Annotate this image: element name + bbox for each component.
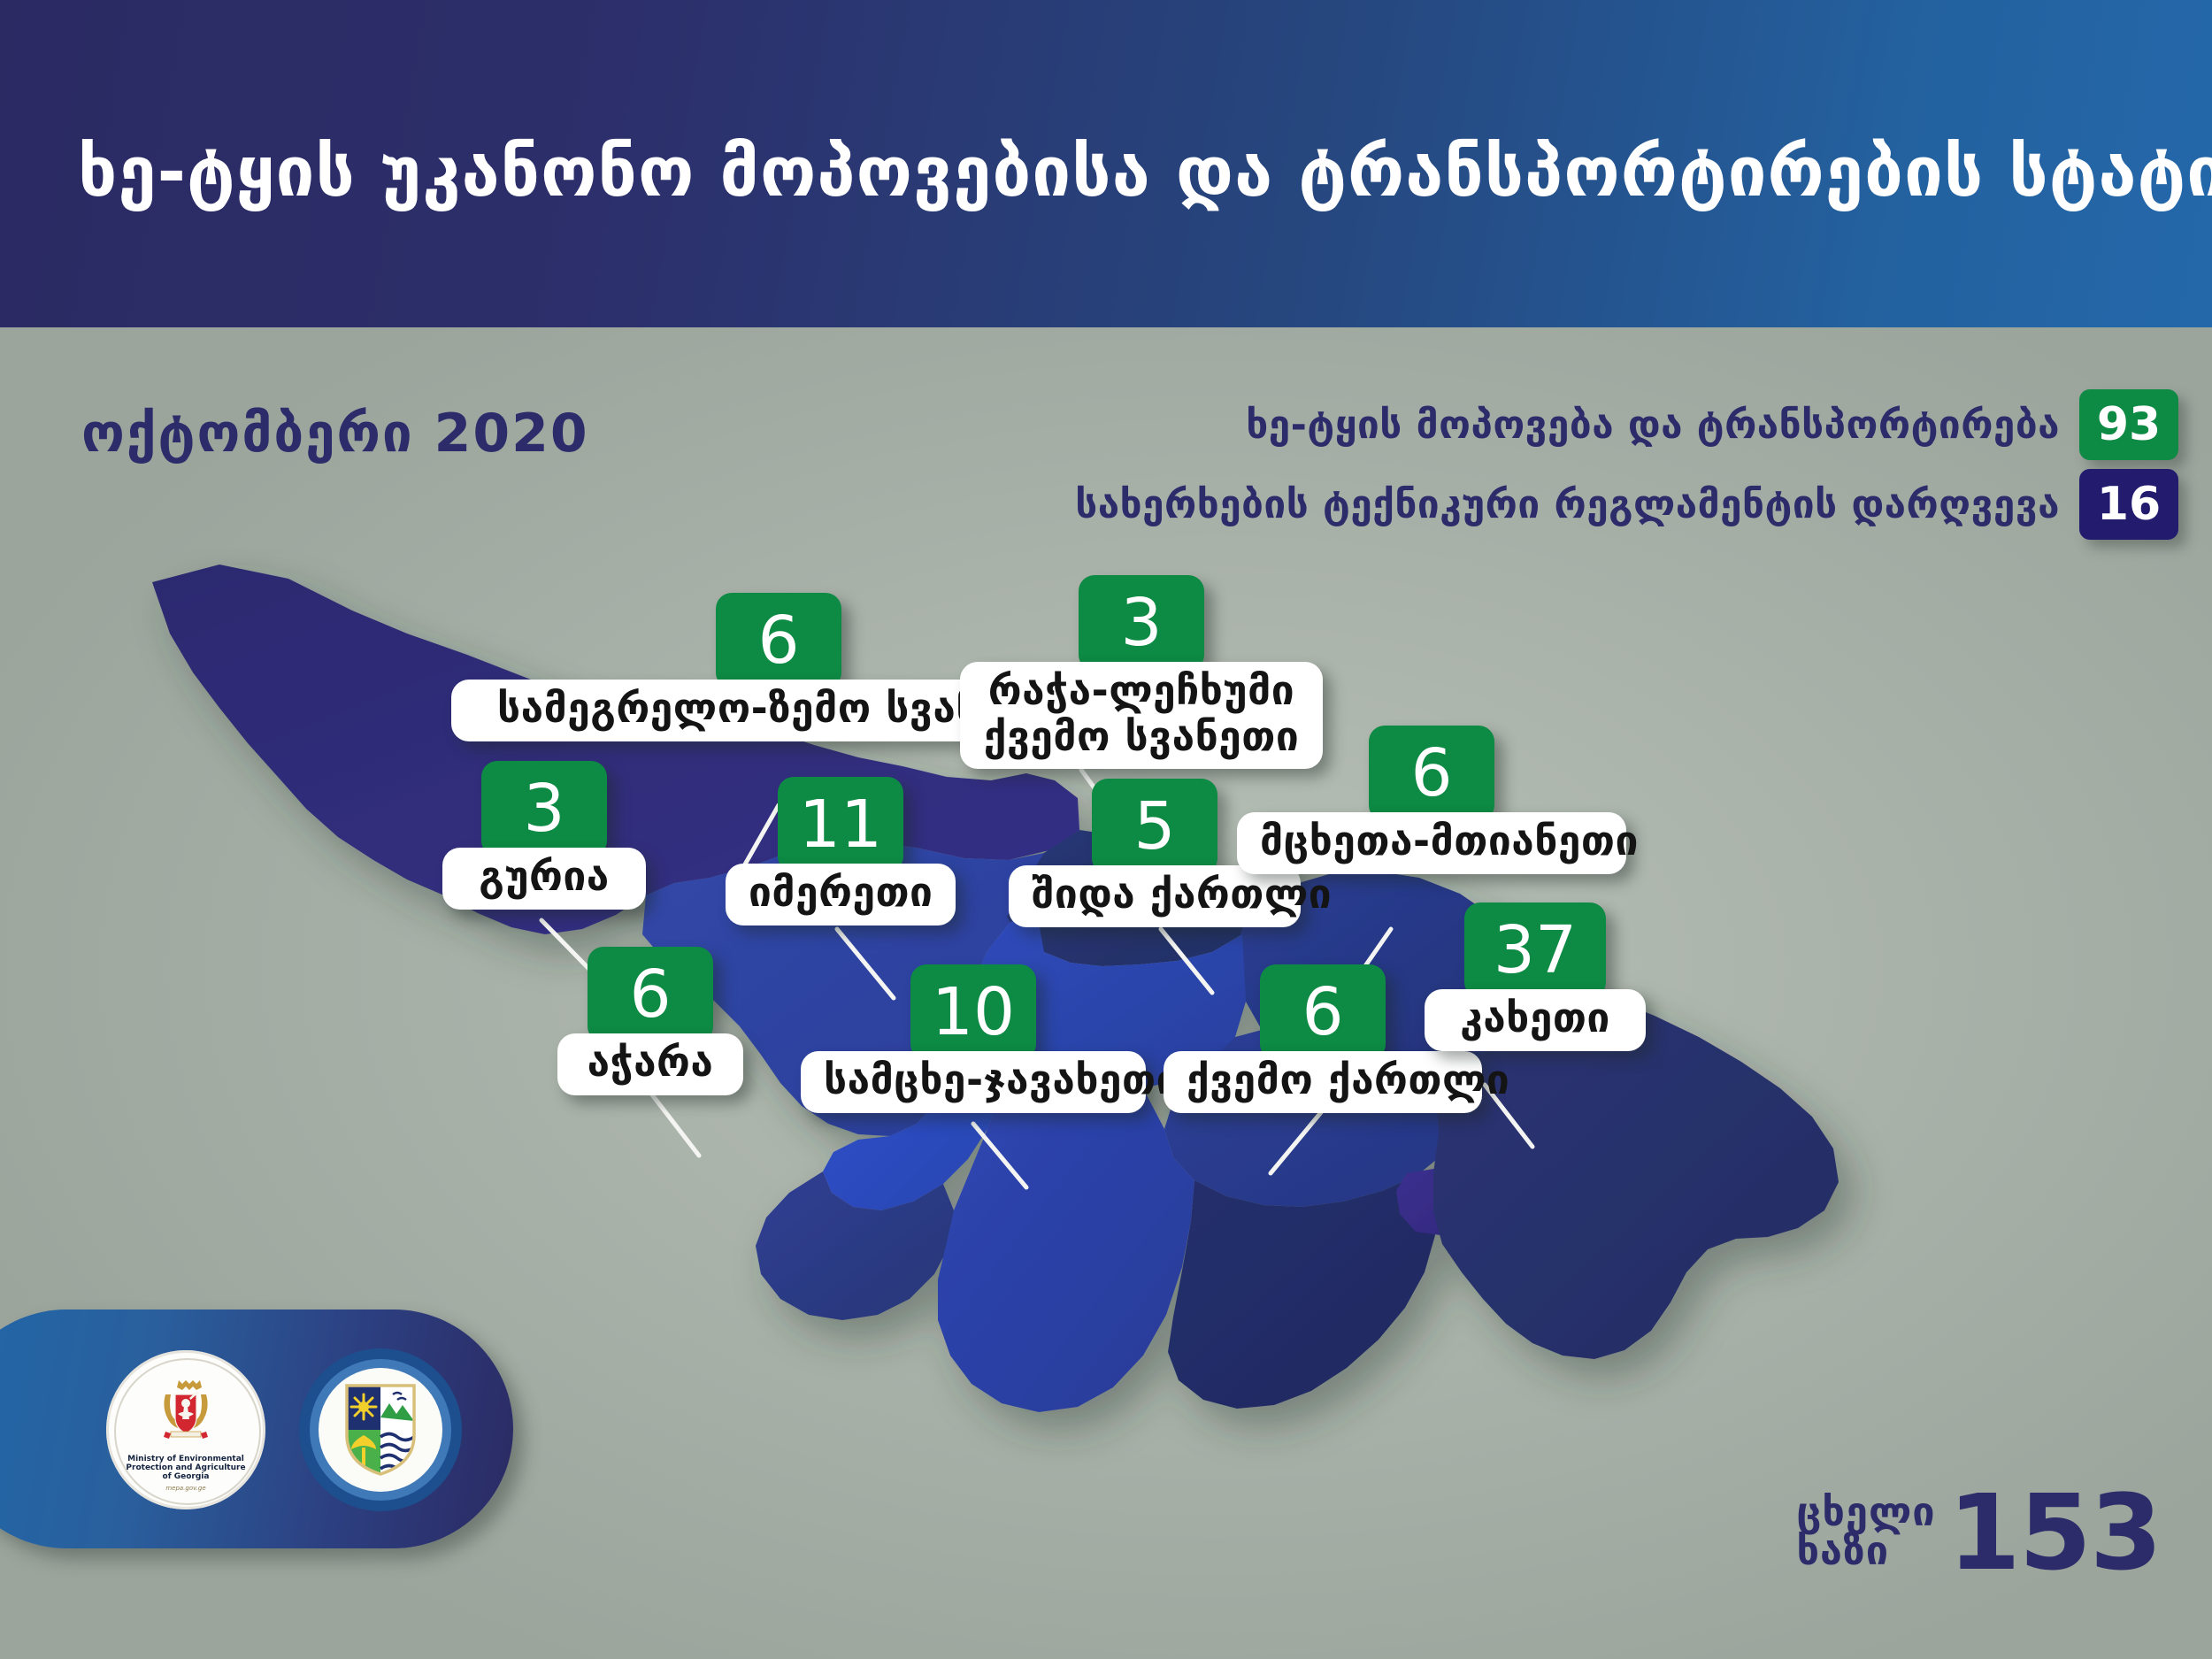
marker-value-samegrelo: 6 xyxy=(716,593,841,688)
marker-value-mtskheta: 6 xyxy=(1369,726,1494,821)
marker-guria[interactable]: 3 გურია xyxy=(442,761,646,910)
legend-row-sawmill: სახერხების ტექნიკური რეგლამენტის დარღვევ… xyxy=(878,469,2178,540)
marker-value-adjara: 6 xyxy=(588,947,713,1042)
date-label: ოქტომბერი 2020 xyxy=(81,403,589,465)
marker-value-imereti: 11 xyxy=(778,777,903,872)
legend-label-harvest: ხე-ტყის მოპოვება და ტრანსპორტირება xyxy=(1246,403,2060,448)
hotline-label: ცხელი ხაზი xyxy=(1796,1493,1935,1571)
ministry-line-1: Ministry of Environmental xyxy=(106,1455,265,1463)
legend-row-harvest: ხე-ტყის მოპოვება და ტრანსპორტირება 93 xyxy=(878,389,2178,460)
marker-label-kakheti: კახეთი xyxy=(1425,989,1646,1051)
marker-label-imereti: იმერეთი xyxy=(726,864,956,926)
hotline: ცხელი ხაზი 153 xyxy=(1796,1488,2161,1578)
page-header: ხე-ტყის უკანონო მოპოვებისა და ტრანსპორტი… xyxy=(0,0,2212,327)
marker-value-shida-kartli: 5 xyxy=(1092,779,1217,874)
supervision-shield-icon xyxy=(342,1380,419,1478)
hotline-word-2: ხაზი xyxy=(1796,1532,1935,1571)
hotline-number: 153 xyxy=(1948,1488,2161,1578)
ministry-line-3: of Georgia xyxy=(106,1472,265,1481)
marker-adjara[interactable]: 6 აჭარა xyxy=(557,947,743,1095)
marker-label-guria: გურია xyxy=(442,848,646,910)
marker-label-adjara: აჭარა xyxy=(557,1033,743,1095)
marker-value-samtskhe: 10 xyxy=(910,964,1036,1060)
logo-bar: Ministry of Environmental Protection and… xyxy=(0,1310,513,1548)
legend-label-sawmill: სახერხების ტექნიკური რეგლამენტის დარღვევ… xyxy=(1075,482,2060,527)
marker-value-kvemo-kartli: 6 xyxy=(1260,964,1386,1060)
georgia-coat-of-arms-icon xyxy=(157,1377,215,1446)
marker-mtskheta[interactable]: 6 მცხეთა-მთიანეთი xyxy=(1237,726,1626,874)
marker-value-racha: 3 xyxy=(1079,575,1204,671)
ministry-seal-url: mepa.gov.ge xyxy=(106,1485,265,1492)
legend-value-sawmill: 16 xyxy=(2079,469,2178,540)
marker-value-guria: 3 xyxy=(481,761,607,856)
ministry-seal: Ministry of Environmental Protection and… xyxy=(106,1350,265,1509)
page-title: ხე-ტყის უკანონო მოპოვებისა და ტრანსპორტი… xyxy=(78,133,2139,212)
marker-label-mtskheta: მცხეთა-მთიანეთი xyxy=(1237,812,1626,874)
legend-value-harvest: 93 xyxy=(2079,389,2178,460)
supervision-department-seal xyxy=(299,1348,462,1511)
marker-kakheti[interactable]: 37 კახეთი xyxy=(1425,902,1646,1051)
marker-value-kakheti: 37 xyxy=(1464,902,1606,998)
ministry-seal-text: Ministry of Environmental Protection and… xyxy=(106,1455,265,1481)
legend: ხე-ტყის მოპოვება და ტრანსპორტირება 93 სა… xyxy=(878,389,2178,549)
marker-label-racha-line1: რაჭა-ლეჩხუმი xyxy=(983,668,1300,714)
region-kvemo-kartli xyxy=(1168,1175,1435,1409)
marker-label-samtskhe: სამცხე-ჯავახეთი xyxy=(801,1051,1146,1113)
marker-label-shida-kartli: შიდა ქართლი xyxy=(1009,865,1301,927)
marker-imereti[interactable]: 11 იმერეთი xyxy=(726,777,956,926)
ministry-line-2: Protection and Agriculture xyxy=(106,1463,265,1472)
hotline-word-1: ცხელი xyxy=(1796,1493,1935,1532)
marker-label-kvemo-kartli: ქვემო ქართლი xyxy=(1164,1051,1482,1113)
marker-samtskhe[interactable]: 10 სამცხე-ჯავახეთი xyxy=(801,964,1146,1113)
